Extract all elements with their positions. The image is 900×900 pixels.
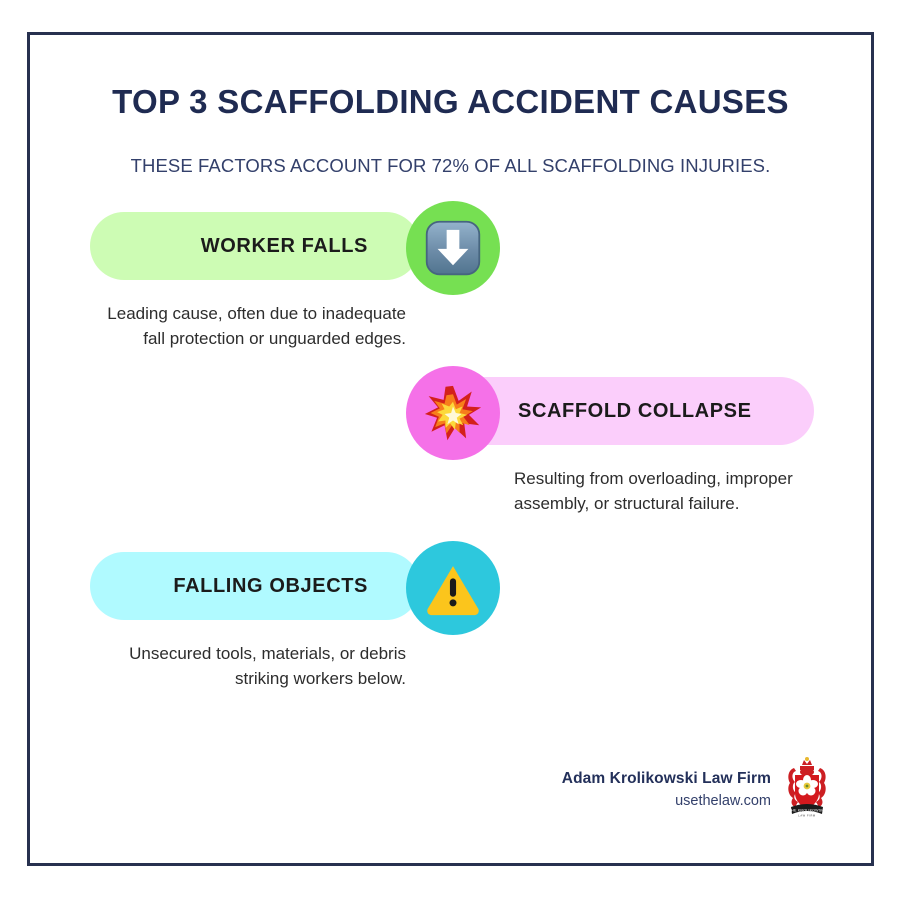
firm-website[interactable]: usethelaw.com — [562, 790, 771, 812]
infographic-poster: TOP 3 SCAFFOLDING ACCIDENT CAUSES THESE … — [27, 32, 874, 866]
poster-header: TOP 3 SCAFFOLDING ACCIDENT CAUSES THESE … — [30, 35, 871, 177]
cause-card-scaffold-collapse: SCAFFOLD COLLAPSE Resulting from overloa… — [30, 366, 871, 516]
footer: Adam Krolikowski Law Firm usethelaw.com — [562, 756, 829, 823]
cause-label: WORKER FALLS — [201, 235, 368, 258]
cause-description: Resulting from overloading, improper ass… — [514, 466, 814, 516]
krolikowski-crest-logo-icon: THE KROLIKOWSKI LAW FIRM — [785, 756, 829, 823]
down-arrow-icon — [424, 219, 482, 277]
cause-badge — [406, 366, 500, 460]
crest-banner-subtext: LAW FIRM — [798, 813, 815, 817]
cause-badge — [406, 541, 500, 635]
page-title: TOP 3 SCAFFOLDING ACCIDENT CAUSES — [30, 83, 871, 121]
poster-subtitle: THESE FACTORS ACCOUNT FOR 72% OF ALL SCA… — [30, 121, 871, 177]
cause-description: Leading cause, often due to inadequate f… — [106, 301, 406, 351]
cause-label: SCAFFOLD COLLAPSE — [518, 400, 752, 423]
cause-pill: FALLING OBJECTS — [90, 552, 420, 620]
cause-pill: WORKER FALLS — [90, 212, 420, 280]
cause-description: Unsecured tools, materials, or debris st… — [90, 641, 406, 691]
footer-text: Adam Krolikowski Law Firm usethelaw.com — [562, 768, 771, 812]
firm-name: Adam Krolikowski Law Firm — [562, 768, 771, 790]
cause-pill: SCAFFOLD COLLAPSE — [450, 377, 814, 445]
cause-card-falling-objects: FALLING OBJECTS Unsecured tools, materia… — [30, 541, 871, 691]
causes-list: WORKER FALLS — [30, 201, 871, 721]
cause-pill-row: WORKER FALLS — [30, 201, 871, 291]
collision-explosion-icon — [423, 383, 483, 443]
cause-pill-row: SCAFFOLD COLLAPSE — [30, 366, 871, 456]
warning-triangle-icon — [425, 560, 481, 616]
cause-pill-row: FALLING OBJECTS — [30, 541, 871, 631]
cause-card-worker-falls: WORKER FALLS — [30, 201, 871, 351]
cause-label: FALLING OBJECTS — [173, 575, 368, 598]
crest-banner-text: THE KROLIKOWSKI — [789, 808, 825, 812]
cause-badge — [406, 201, 500, 295]
